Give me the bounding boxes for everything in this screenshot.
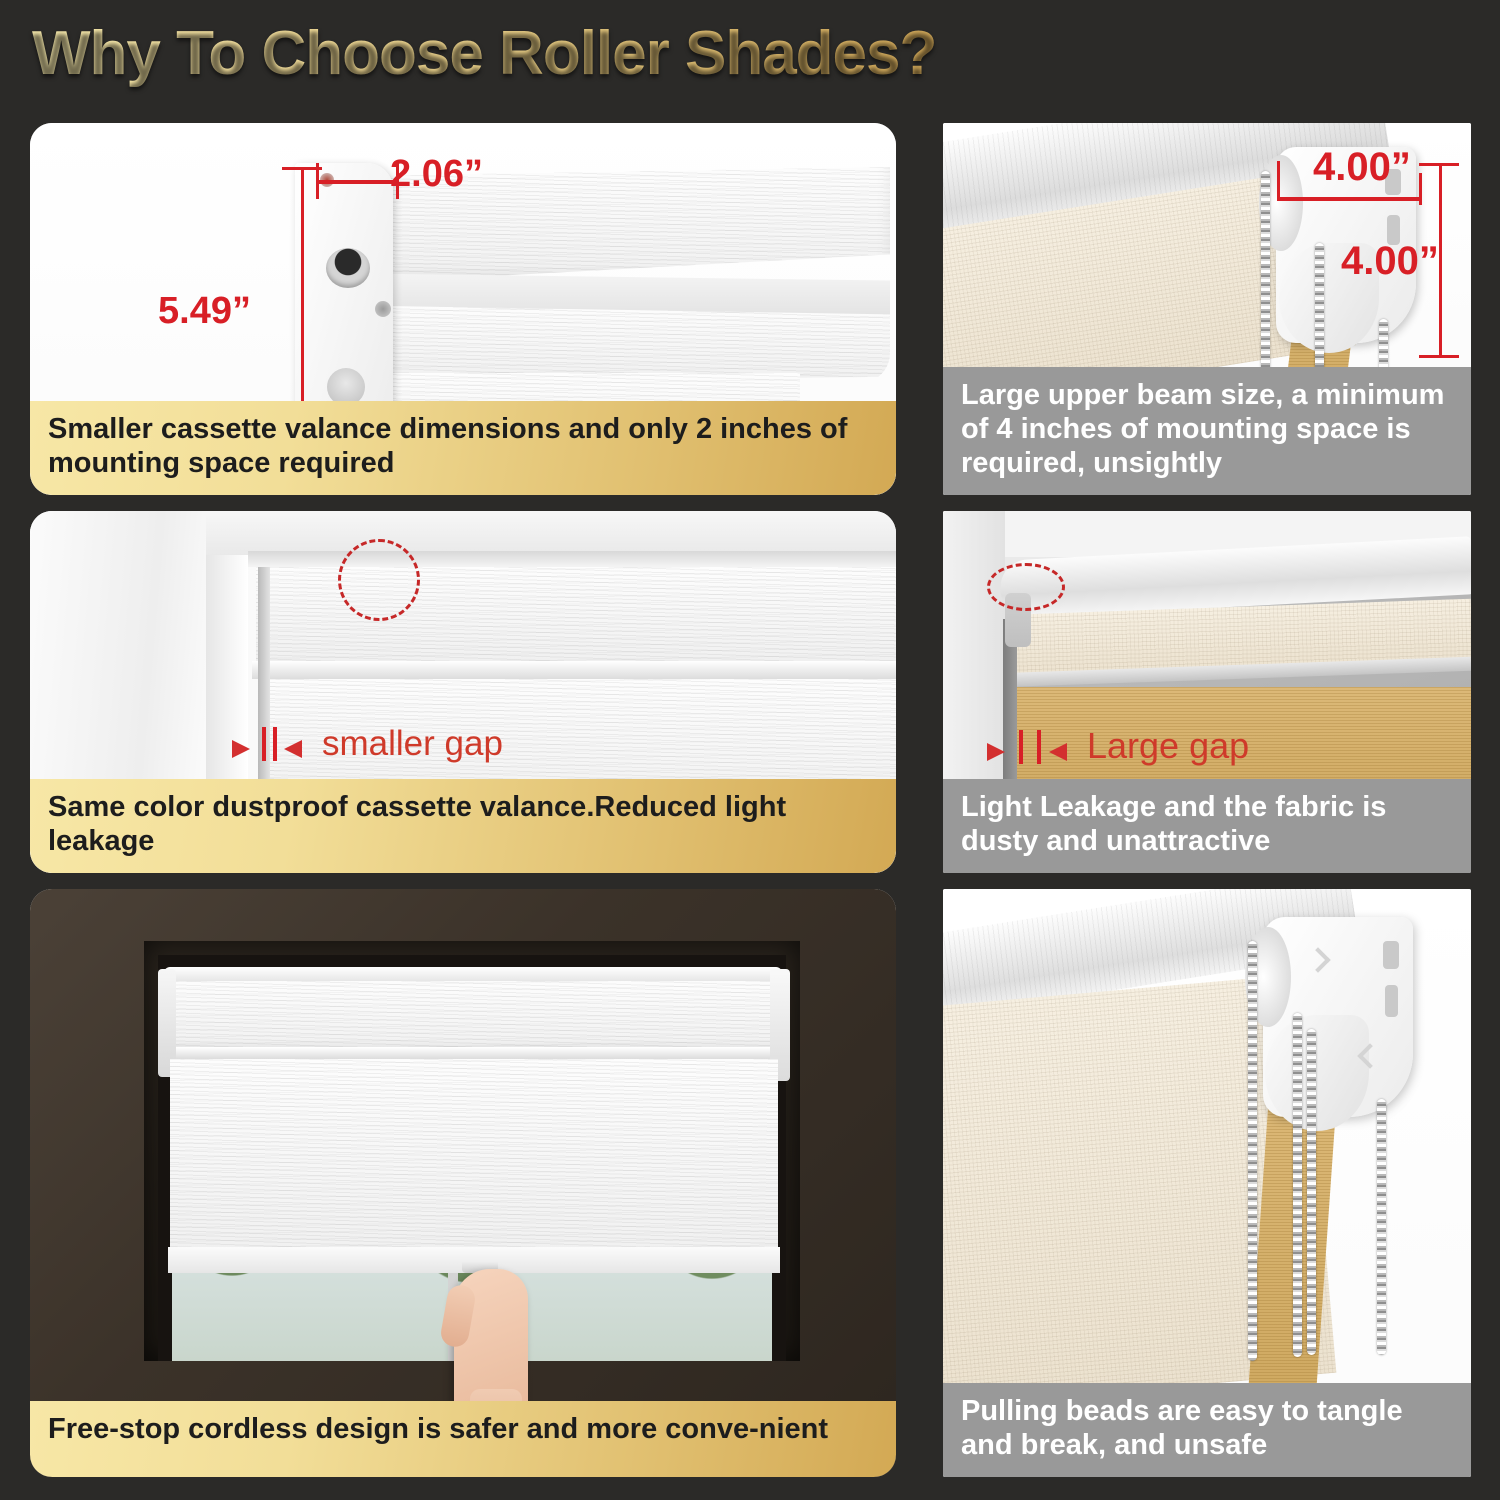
width-dimension-label: 2.06” (390, 153, 483, 196)
bracket-slot-lower (1385, 985, 1398, 1017)
window-frame-top (206, 511, 896, 555)
height-dimension-label: 5.49” (158, 290, 251, 333)
gap-arrow-left (232, 740, 250, 758)
bead-chain-right (1377, 1099, 1386, 1355)
beam-width-tick-right (1419, 173, 1422, 205)
bead-chain-mid-b (1307, 1029, 1316, 1355)
roller-shade-fabric (170, 1059, 778, 1255)
cassette-valance-face (164, 981, 782, 1053)
bead-chain-left (1248, 941, 1257, 1361)
shade-side-edge (258, 567, 270, 815)
end-cap-upper-slot (326, 248, 370, 288)
bracket-lower-lobe (1265, 1015, 1369, 1131)
bead-chain-mid-a (1293, 1013, 1302, 1357)
beam-width-dim-line (1279, 197, 1421, 201)
panel-5-photo (30, 889, 896, 1477)
page-title: Why To Choose Roller Shades? (32, 18, 936, 89)
panel-dustproof-valance: smaller gap Same color dustproof cassett… (30, 511, 896, 873)
beam-height-tick-bottom (1419, 355, 1459, 358)
width-dim-line (318, 180, 398, 184)
panel-pulling-beads: Pulling beads are easy to tangle and bre… (943, 889, 1471, 1477)
end-cap-mid-screw (375, 301, 391, 317)
beam-width-label: 4.00” (1313, 145, 1411, 190)
panel-4-caption: Light Leakage and the fabric is dusty an… (943, 779, 1471, 873)
gap-arrow-right (284, 740, 302, 758)
panel-light-leakage: Large gap Light Leakage and the fabric i… (943, 511, 1471, 873)
gap-arrow-left (987, 743, 1005, 761)
beam-width-tick-left (1277, 161, 1280, 201)
gap-tick-b (273, 727, 277, 761)
beam-height-label: 4.00” (1341, 239, 1439, 284)
panel-5-caption: Free-stop cordless design is safer and m… (30, 1401, 896, 1477)
panel-2-caption: Large upper beam size, a minimum of 4 in… (943, 367, 1471, 495)
cassette-roller-tube (330, 305, 890, 383)
panel-1-caption: Smaller cassette valance dimensions and … (30, 401, 896, 495)
gap-highlight-circle (338, 539, 420, 621)
infographic-page: Why To Choose Roller Shades? 2.06” 5.49 (0, 0, 1500, 1500)
panel-cordless-design: Free-stop cordless design is safer and m… (30, 889, 896, 1477)
gap-arrow-right (1049, 743, 1067, 761)
panel-6-caption: Pulling beads are easy to tangle and bre… (943, 1383, 1471, 1477)
beam-height-dim-line (1439, 163, 1442, 357)
smaller-gap-label: smaller gap (322, 724, 503, 764)
gap-tick-a (262, 727, 266, 761)
valance-bottom-bar (252, 661, 896, 679)
large-gap-label: Large gap (1087, 725, 1249, 767)
bead-chain-left (1261, 171, 1270, 395)
beam-height-tick-top (1419, 163, 1459, 166)
panel-large-upper-beam: 4.00” 4.00” Large upper beam size, a min… (943, 123, 1471, 495)
gap-tick-b (1037, 730, 1041, 764)
panel-smaller-cassette: 2.06” 5.49” Smaller cassette valance dim… (30, 123, 896, 495)
bracket-slot-upper (1383, 941, 1399, 969)
gap-highlight-circle (987, 563, 1065, 611)
height-dim-tick-top (282, 167, 322, 170)
gap-tick-a (1019, 730, 1023, 764)
panel-3-caption: Same color dustproof cassette valance.Re… (30, 779, 896, 873)
